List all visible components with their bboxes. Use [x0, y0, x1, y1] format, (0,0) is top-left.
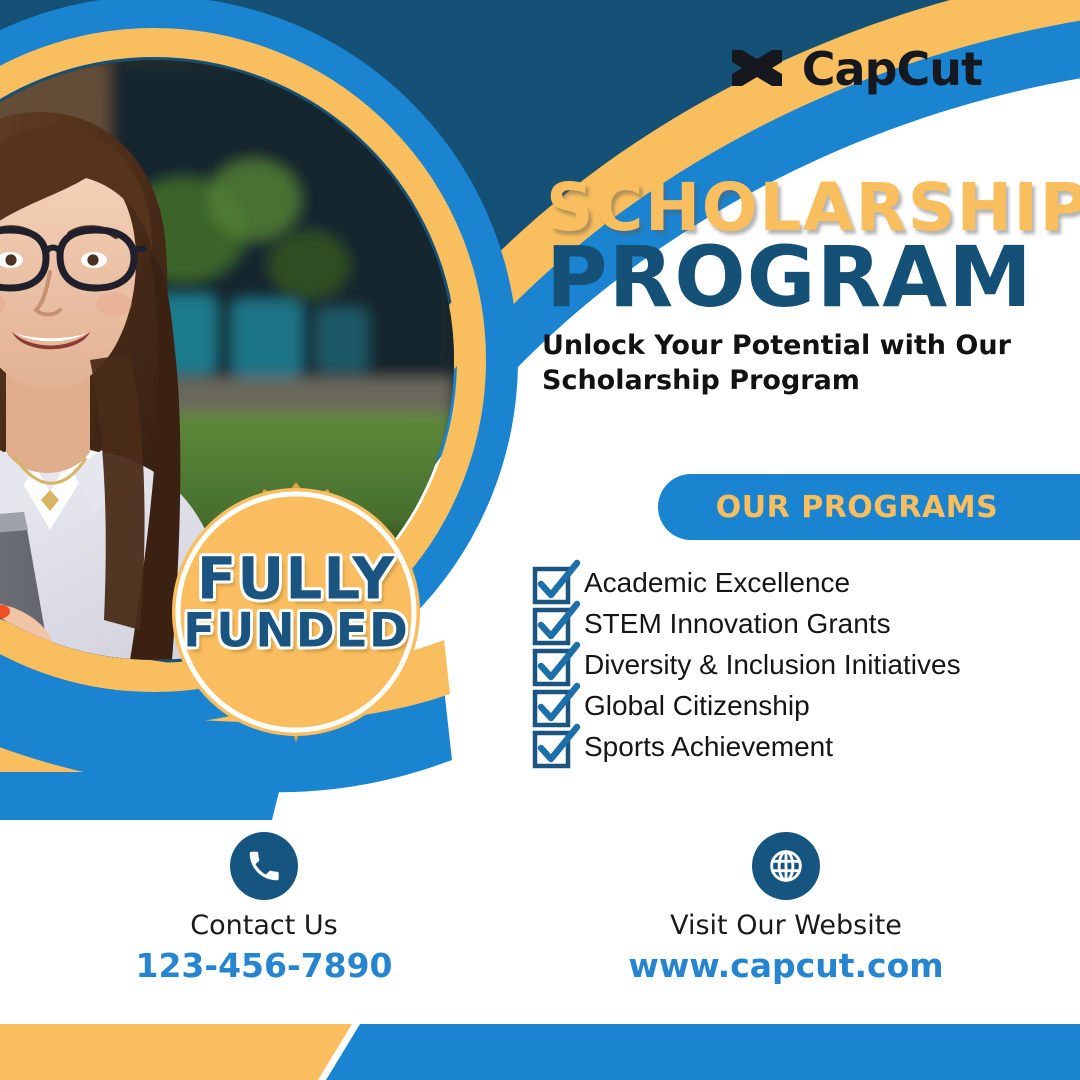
page-title-program: PROGRAM	[546, 237, 1080, 318]
list-item[interactable]: Diversity & Inclusion Initiatives	[534, 644, 961, 685]
badge-starburst-icon	[146, 448, 446, 762]
checkbox-checked-icon[interactable]	[534, 689, 568, 723]
hero-subtitle: Unlock Your Potential with Our Scholarsh…	[542, 329, 1012, 398]
list-item[interactable]: STEM Innovation Grants	[534, 603, 961, 644]
program-label: Global Citizenship	[584, 690, 810, 722]
contact-phone-block[interactable]: Contact Us 123-456-7890	[104, 832, 424, 986]
capcut-scissors-icon	[730, 46, 784, 92]
capcut-logo[interactable]: CapCut	[730, 42, 982, 96]
our-programs-label: OUR PROGRAMS	[716, 490, 1040, 525]
title-block: SCHOLARSHIP PROGRAM	[540, 176, 1080, 317]
checkbox-checked-icon[interactable]	[534, 566, 568, 600]
contact-phone-value[interactable]: 123-456-7890	[104, 946, 424, 986]
contact-website-value[interactable]: www.capcut.com	[626, 946, 946, 986]
contact-phone-caption: Contact Us	[104, 910, 424, 942]
globe-icon	[752, 832, 820, 900]
list-item[interactable]: Sports Achievement	[534, 726, 961, 767]
poster-canvas: FULLY FUNDED CapCut SCHOLARSHIP PROGRAM …	[0, 0, 1080, 1080]
contact-website-caption: Visit Our Website	[626, 910, 946, 942]
program-label: Sports Achievement	[584, 731, 833, 763]
capcut-wordmark: CapCut	[802, 42, 982, 96]
checkbox-checked-icon[interactable]	[534, 648, 568, 682]
contact-website-block[interactable]: Visit Our Website www.capcut.com	[626, 832, 946, 986]
phone-icon	[230, 832, 298, 900]
fully-funded-badge: FULLY FUNDED	[146, 448, 446, 762]
bottom-orange-bar	[0, 1024, 352, 1080]
headline-column: SCHOLARSHIP PROGRAM Unlock Your Potentia…	[540, 176, 1080, 398]
bottom-blue-bar	[326, 1024, 1080, 1080]
checkbox-checked-icon[interactable]	[534, 730, 568, 764]
program-label: Diversity & Inclusion Initiatives	[584, 649, 961, 681]
program-label: STEM Innovation Grants	[584, 608, 891, 640]
checkbox-checked-icon[interactable]	[534, 607, 568, 641]
our-programs-ribbon: OUR PROGRAMS	[658, 474, 1080, 540]
program-label: Academic Excellence	[584, 567, 850, 599]
programs-checklist: Academic Excellence STEM Innovation Gran…	[534, 562, 961, 767]
list-item[interactable]: Academic Excellence	[534, 562, 961, 603]
list-item[interactable]: Global Citizenship	[534, 685, 961, 726]
